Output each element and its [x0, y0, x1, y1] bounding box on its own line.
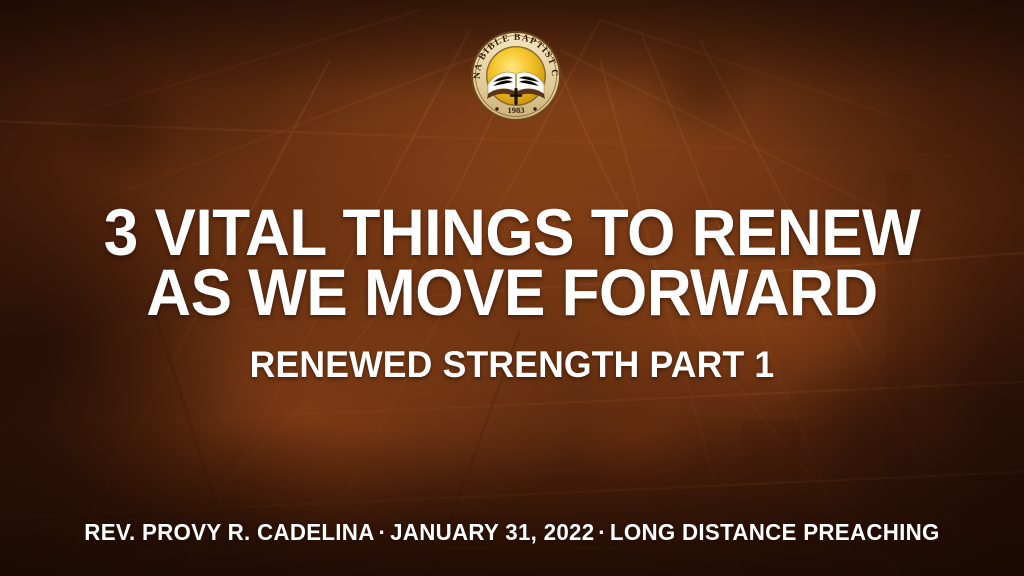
sermon-title-slide: HOSANNA BIBLE BAPTIST CHURCH: [0, 0, 1024, 576]
speaker-name: REV. PROVY R. CADELINA: [84, 519, 374, 545]
title-line-2: AS WE MOVE FORWARD: [31, 262, 994, 322]
sermon-venue: LONG DISTANCE PREACHING: [610, 519, 940, 545]
slide-content: 3 VITAL THINGS TO RENEW AS WE MOVE FORWA…: [0, 0, 1024, 576]
credits-separator-1: ·: [375, 519, 390, 545]
sermon-series-subtitle: RENEWED STRENGTH PART 1: [20, 344, 1003, 386]
credits-separator-2: ·: [594, 519, 609, 545]
sermon-credits: REV. PROVY R. CADELINA·JANUARY 31, 2022·…: [15, 518, 1008, 546]
title-line-1: 3 VITAL THINGS TO RENEW: [31, 202, 994, 262]
sermon-title: 3 VITAL THINGS TO RENEW AS WE MOVE FORWA…: [0, 202, 1024, 322]
sermon-date: JANUARY 31, 2022: [390, 519, 594, 545]
